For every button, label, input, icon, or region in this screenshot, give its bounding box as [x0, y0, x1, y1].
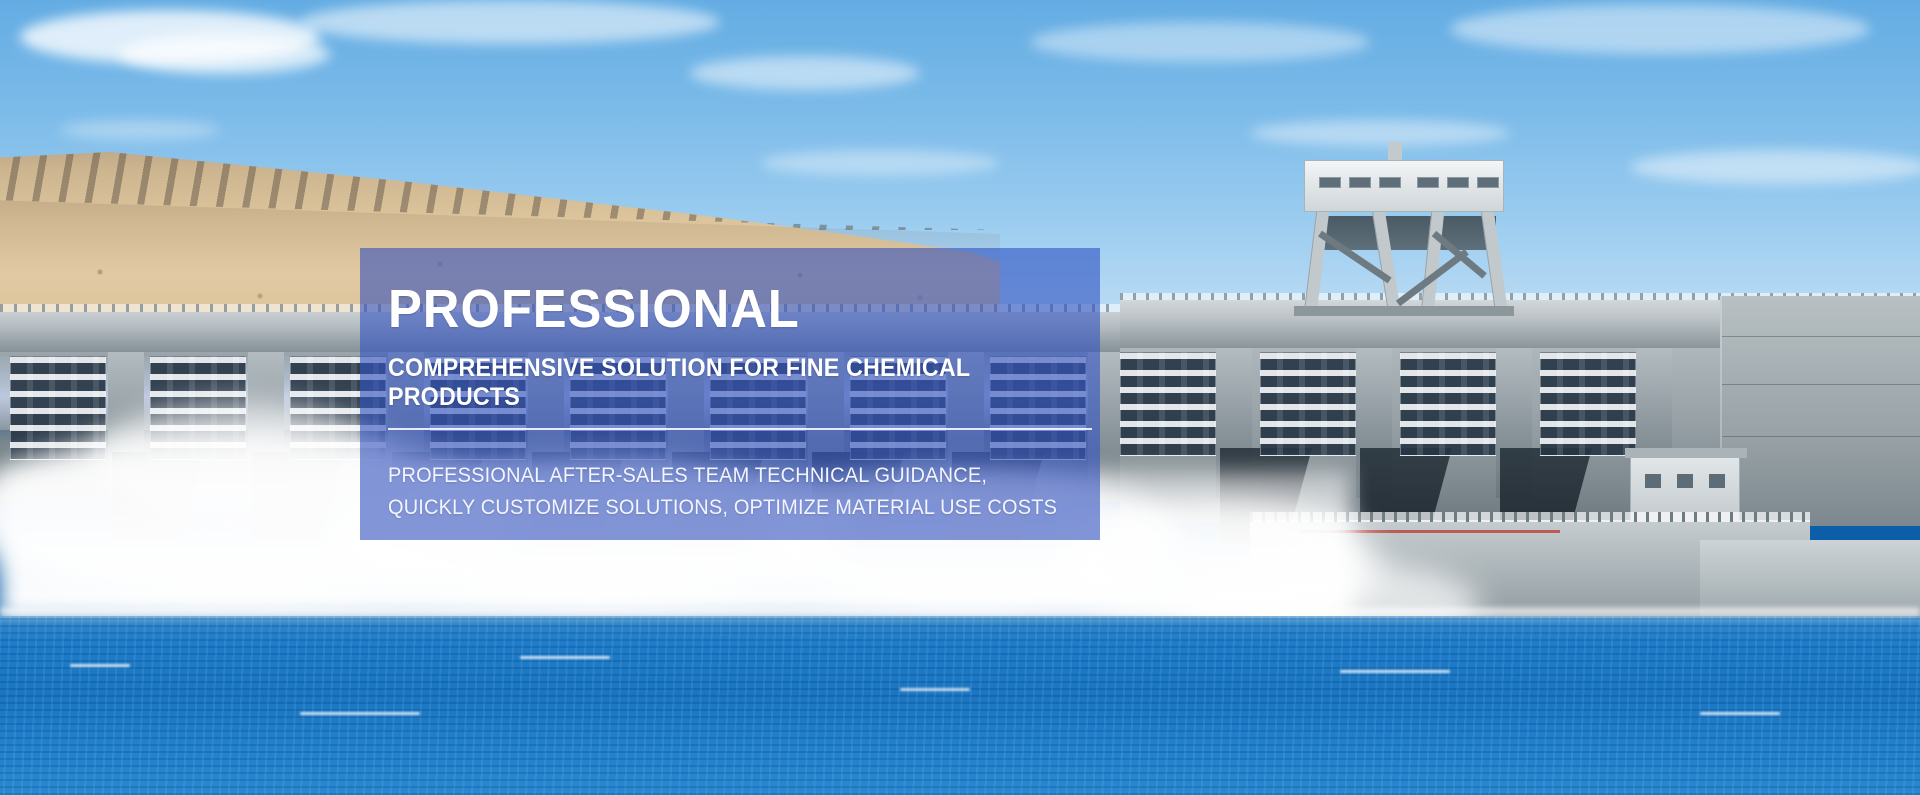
water-glint: [900, 688, 970, 691]
crane-housing: [1304, 160, 1504, 212]
crane-leg: [1481, 212, 1508, 312]
spillway-gate: [1260, 352, 1356, 456]
hut-window: [1677, 474, 1693, 488]
cloud: [1250, 120, 1510, 146]
hero-banner: PROFESSIONAL COMPREHENSIVE SOLUTION FOR …: [0, 0, 1920, 795]
cloud: [60, 120, 220, 140]
gantry-crane: [1288, 160, 1518, 315]
promo-body-line-2: QUICKLY CUSTOMIZE SOLUTIONS, OPTIMIZE MA…: [388, 492, 1036, 524]
promo-body: PROFESSIONAL AFTER-SALES TEAM TECHNICAL …: [388, 460, 1036, 523]
water-glint: [1340, 670, 1450, 673]
cloud: [760, 150, 1000, 176]
promo-divider: [388, 428, 1092, 430]
promo-body-line-1: PROFESSIONAL AFTER-SALES TEAM TECHNICAL …: [388, 460, 1036, 492]
spillway-gate: [1540, 352, 1636, 456]
promo-overlay-panel: PROFESSIONAL COMPREHENSIVE SOLUTION FOR …: [360, 248, 1100, 540]
cloud: [1030, 22, 1370, 62]
crane-window: [1417, 177, 1439, 188]
crane-window: [1477, 177, 1499, 188]
hut-window: [1709, 474, 1725, 488]
water-glint: [300, 712, 420, 715]
crane-machinery: [1318, 216, 1496, 250]
crane-window: [1379, 177, 1401, 188]
concrete-seam: [1722, 336, 1920, 337]
water-waves: [0, 616, 1920, 795]
cloud: [300, 0, 720, 44]
river-water: [0, 616, 1920, 795]
hut-window: [1645, 474, 1661, 488]
crane-leg: [1304, 212, 1329, 312]
spillway-foam: [90, 400, 390, 520]
crane-window: [1349, 177, 1371, 188]
hut-roof: [1625, 448, 1747, 458]
water-glint: [70, 664, 130, 667]
promo-content: PROFESSIONAL COMPREHENSIVE SOLUTION FOR …: [360, 248, 1100, 523]
cloud: [1630, 150, 1920, 184]
spillway-gate: [1120, 352, 1216, 456]
crane-window: [1447, 177, 1469, 188]
concrete-seam: [1722, 436, 1920, 437]
cloud: [120, 34, 330, 74]
spillway-gate: [1400, 352, 1496, 456]
water-glint: [1700, 712, 1780, 715]
cloud: [1450, 4, 1870, 54]
promo-title: PROFESSIONAL: [388, 282, 1029, 336]
concrete-seam: [1722, 384, 1920, 385]
promo-subtitle: COMPREHENSIVE SOLUTION FOR FINE CHEMICAL…: [388, 354, 1022, 412]
cloud: [690, 56, 920, 90]
crane-base-rail: [1294, 306, 1514, 316]
water-glint: [520, 656, 610, 659]
crane-window: [1319, 177, 1341, 188]
dam-end-block: [1720, 296, 1920, 526]
